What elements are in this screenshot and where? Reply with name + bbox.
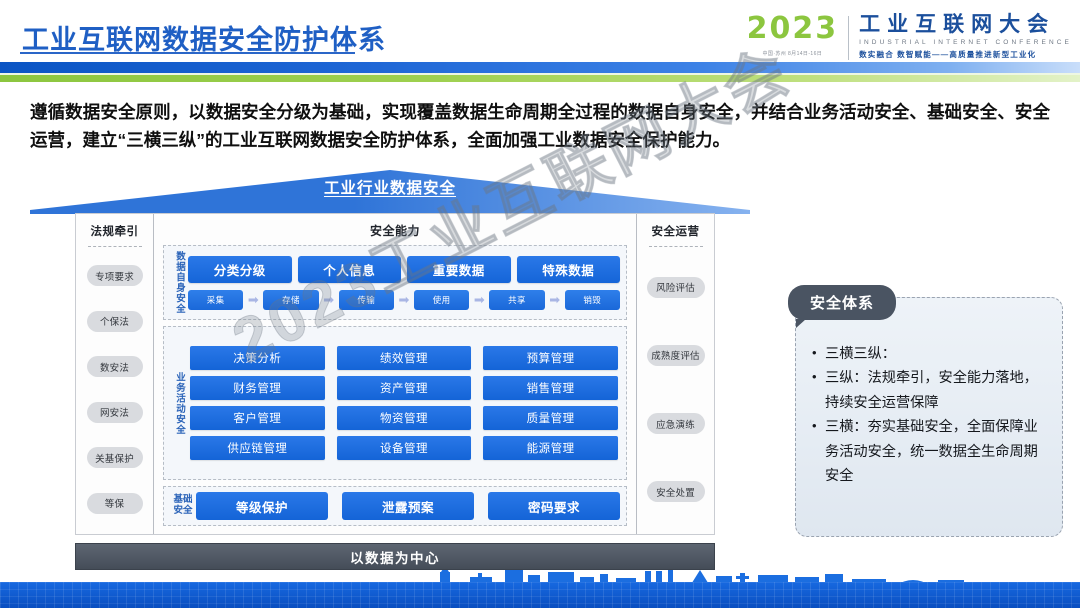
basic-security-body: 等级保护 泄露预案 密码要求 <box>196 492 620 520</box>
business-item[interactable]: 销售管理 <box>483 376 618 400</box>
operations-item[interactable]: 应急演练 <box>647 413 705 434</box>
business-item[interactable]: 预算管理 <box>483 346 618 370</box>
left-column-divider <box>88 246 142 247</box>
bullet-icon: • <box>812 366 825 388</box>
skyline-ground <box>0 582 1080 608</box>
callout-bullet-text: 三纵：法规牵引，安全能力落地，持续安全运营保障 <box>825 366 1048 415</box>
business-item[interactable]: 质量管理 <box>483 406 618 430</box>
data-category[interactable]: 个人信息 <box>298 256 402 283</box>
business-item[interactable]: 绩效管理 <box>337 346 472 370</box>
basic-security-item[interactable]: 等级保护 <box>196 492 328 520</box>
roof-label: 工业行业数据安全 <box>30 176 750 198</box>
center-column-title: 安全能力 <box>163 222 627 239</box>
lifecycle-stage[interactable]: 使用 <box>414 290 469 310</box>
operations-item[interactable]: 安全处置 <box>647 481 705 502</box>
regulation-item[interactable]: 个保法 <box>87 311 143 332</box>
center-column-capability: 安全能力 数据自身安全 分类分级 个人信息 重要数据 特殊数据 采集 ➡ <box>154 214 636 534</box>
business-item[interactable]: 供应链管理 <box>190 436 325 460</box>
logo-year-subtitle: 中国·苏州 8月14日-16日 <box>763 50 823 57</box>
arrow-right-icon: ➡ <box>319 293 339 306</box>
business-item[interactable]: 设备管理 <box>337 436 472 460</box>
logo-year-block: 2023 中国·苏州 8月14日-16日 <box>747 14 849 57</box>
logo-name-cn: 工业互联网大会 <box>859 14 1072 36</box>
regulation-item[interactable]: 专项要求 <box>87 265 143 286</box>
business-activity-label: 业务活动安全 <box>170 332 188 474</box>
arrow-right-icon: ➡ <box>394 293 414 306</box>
data-self-security-block: 数据自身安全 分类分级 个人信息 重要数据 特殊数据 采集 ➡ 存储 ➡ <box>163 245 627 320</box>
callout-bullet-text: 三横三纵： <box>825 342 1048 366</box>
lifecycle-stage[interactable]: 销毁 <box>565 290 620 310</box>
right-column-divider <box>649 246 703 247</box>
left-column-items: 专项要求 个保法 数安法 网安法 关基保护 等保 <box>76 249 153 534</box>
logo-name-block: 工业互联网大会 INDUSTRIAL INTERNET CONFERENCE 数… <box>849 14 1072 60</box>
data-category-row: 分类分级 个人信息 重要数据 特殊数据 <box>188 256 620 283</box>
regulation-item[interactable]: 数安法 <box>87 356 143 377</box>
business-activity-block: 业务活动安全 决策分析 绩效管理 预算管理 财务管理 资产管理 销售管理 客户管… <box>163 326 627 480</box>
business-item[interactable]: 决策分析 <box>190 346 325 370</box>
operations-item[interactable]: 风险评估 <box>647 277 705 298</box>
list-item: • 三纵：法规牵引，安全能力落地，持续安全运营保障 <box>812 366 1048 415</box>
left-column-regulation: 法规牵引 专项要求 个保法 数安法 网安法 关基保护 等保 <box>76 214 154 534</box>
slide-root: 工业互联网数据安全防护体系 2023 中国·苏州 8月14日-16日 工业互联网… <box>0 0 1080 608</box>
arrow-right-icon: ➡ <box>469 293 489 306</box>
basic-security-item[interactable]: 泄露预案 <box>342 492 474 520</box>
data-lifecycle-row: 采集 ➡ 存储 ➡ 传输 ➡ 使用 ➡ 共享 ➡ 销毁 <box>188 290 620 310</box>
business-activity-body: 决策分析 绩效管理 预算管理 财务管理 资产管理 销售管理 客户管理 物资管理 … <box>188 332 620 474</box>
logo-name-en: INDUSTRIAL INTERNET CONFERENCE <box>859 39 1072 46</box>
data-category[interactable]: 特殊数据 <box>517 256 621 283</box>
diagram-footer-bar: 以数据为中心 <box>75 543 715 570</box>
business-activity-grid: 决策分析 绩效管理 预算管理 财务管理 资产管理 销售管理 客户管理 物资管理 … <box>188 344 620 462</box>
callout-bullet-list: • 三横三纵： • 三纵：法规牵引，安全能力落地，持续安全运营保障 • 三横：夯… <box>812 342 1048 489</box>
operations-item[interactable]: 成熟度评估 <box>647 345 705 366</box>
regulation-item[interactable]: 等保 <box>87 493 143 514</box>
lead-paragraph: 遵循数据安全原则，以数据安全分级为基础，实现覆盖数据生命周期全过程的数据自身安全… <box>30 98 1050 155</box>
bullet-icon: • <box>812 342 825 364</box>
business-item[interactable]: 客户管理 <box>190 406 325 430</box>
header-green-bar <box>0 75 1080 82</box>
list-item: • 三横：夯实基础安全，全面保障业务活动安全，统一数据全生命周期安全 <box>812 415 1048 488</box>
arrow-right-icon: ➡ <box>243 293 263 306</box>
basic-security-label: 基础安全 <box>170 492 196 520</box>
business-item[interactable]: 资产管理 <box>337 376 472 400</box>
business-item[interactable]: 能源管理 <box>483 436 618 460</box>
lifecycle-stage[interactable]: 存储 <box>263 290 318 310</box>
lifecycle-stage[interactable]: 共享 <box>489 290 544 310</box>
framework-body: 法规牵引 专项要求 个保法 数安法 网安法 关基保护 等保 安全能力 数据自身安… <box>75 213 715 535</box>
arrow-right-icon: ➡ <box>545 293 565 306</box>
business-item[interactable]: 财务管理 <box>190 376 325 400</box>
callout-title-tab: 安全体系 <box>788 285 896 320</box>
title-underline <box>20 52 355 54</box>
bottom-skyline-decoration <box>0 570 1080 608</box>
basic-security-block: 基础安全 等级保护 泄露预案 密码要求 <box>163 486 627 526</box>
bullet-icon: • <box>812 415 825 437</box>
logo-year: 2023 <box>747 14 839 44</box>
conference-logo: 2023 中国·苏州 8月14日-16日 工业互联网大会 INDUSTRIAL … <box>747 14 1072 74</box>
right-column-operations: 安全运营 风险评估 成熟度评估 应急演练 安全处置 <box>636 214 714 534</box>
list-item: • 三横三纵： <box>812 342 1048 366</box>
basic-security-item[interactable]: 密码要求 <box>488 492 620 520</box>
left-column-title: 法规牵引 <box>91 223 139 239</box>
right-column-title: 安全运营 <box>652 223 700 239</box>
lifecycle-stage[interactable]: 采集 <box>188 290 243 310</box>
regulation-item[interactable]: 关基保护 <box>87 447 143 468</box>
logo-tagline: 数实融合 数智赋能——高质量推进新型工业化 <box>859 49 1072 60</box>
security-system-callout: 安全体系 • 三横三纵： • 三纵：法规牵引，安全能力落地，持续安全运营保障 •… <box>795 297 1063 537</box>
diagram-roof: 工业行业数据安全 <box>30 168 750 214</box>
lifecycle-stage[interactable]: 传输 <box>339 290 394 310</box>
business-item[interactable]: 物资管理 <box>337 406 472 430</box>
callout-bullet-text: 三横：夯实基础安全，全面保障业务活动安全，统一数据全生命周期安全 <box>825 415 1048 488</box>
security-framework-diagram: 工业行业数据安全 法规牵引 专项要求 个保法 数安法 网安法 关基保护 等保 安… <box>30 168 750 580</box>
data-self-security-label: 数据自身安全 <box>170 251 188 314</box>
regulation-item[interactable]: 网安法 <box>87 402 143 423</box>
basic-security-row: 等级保护 泄露预案 密码要求 <box>196 492 620 520</box>
right-column-items: 风险评估 成熟度评估 应急演练 安全处置 <box>637 249 714 534</box>
data-category[interactable]: 重要数据 <box>407 256 511 283</box>
data-category[interactable]: 分类分级 <box>188 256 292 283</box>
data-self-security-body: 分类分级 个人信息 重要数据 特殊数据 采集 ➡ 存储 ➡ 传输 ➡ <box>188 251 620 314</box>
